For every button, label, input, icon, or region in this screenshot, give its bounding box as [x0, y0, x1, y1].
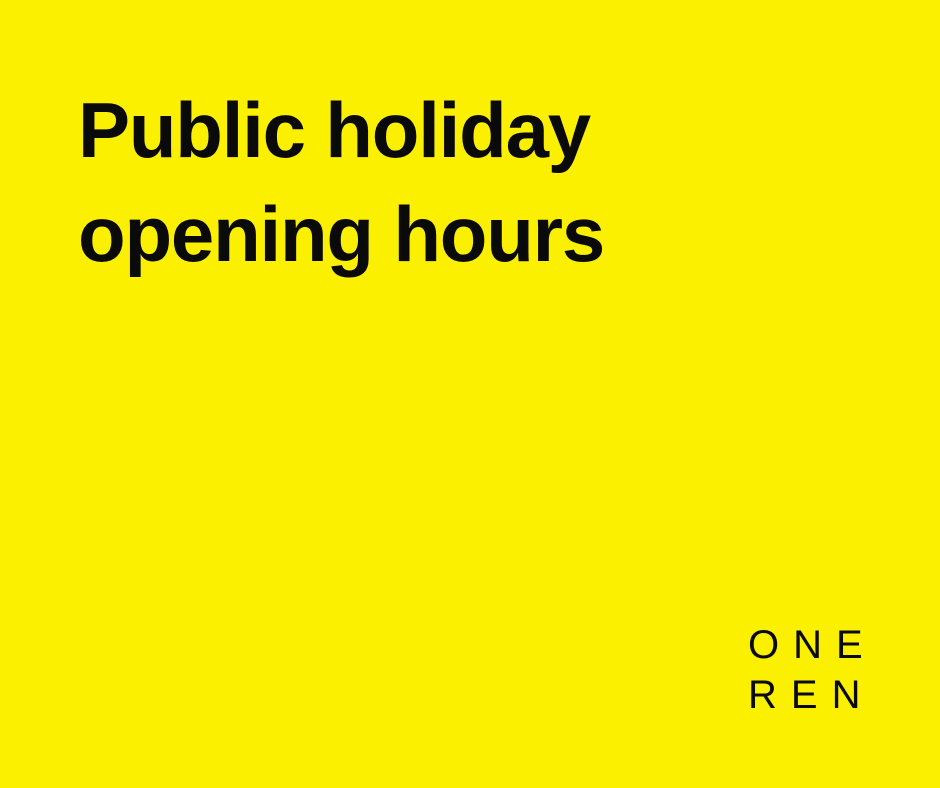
logo-line-one: ONE [748, 620, 874, 670]
headline-line-2: opening hours [78, 182, 698, 286]
page-title: Public holiday opening hours [78, 78, 698, 286]
oneren-logo: ONE REN [748, 620, 874, 720]
promotional-card: Public holiday opening hours ONE REN [0, 0, 940, 788]
headline-line-1: Public holiday [78, 78, 698, 182]
logo-line-ren: REN [748, 670, 874, 720]
